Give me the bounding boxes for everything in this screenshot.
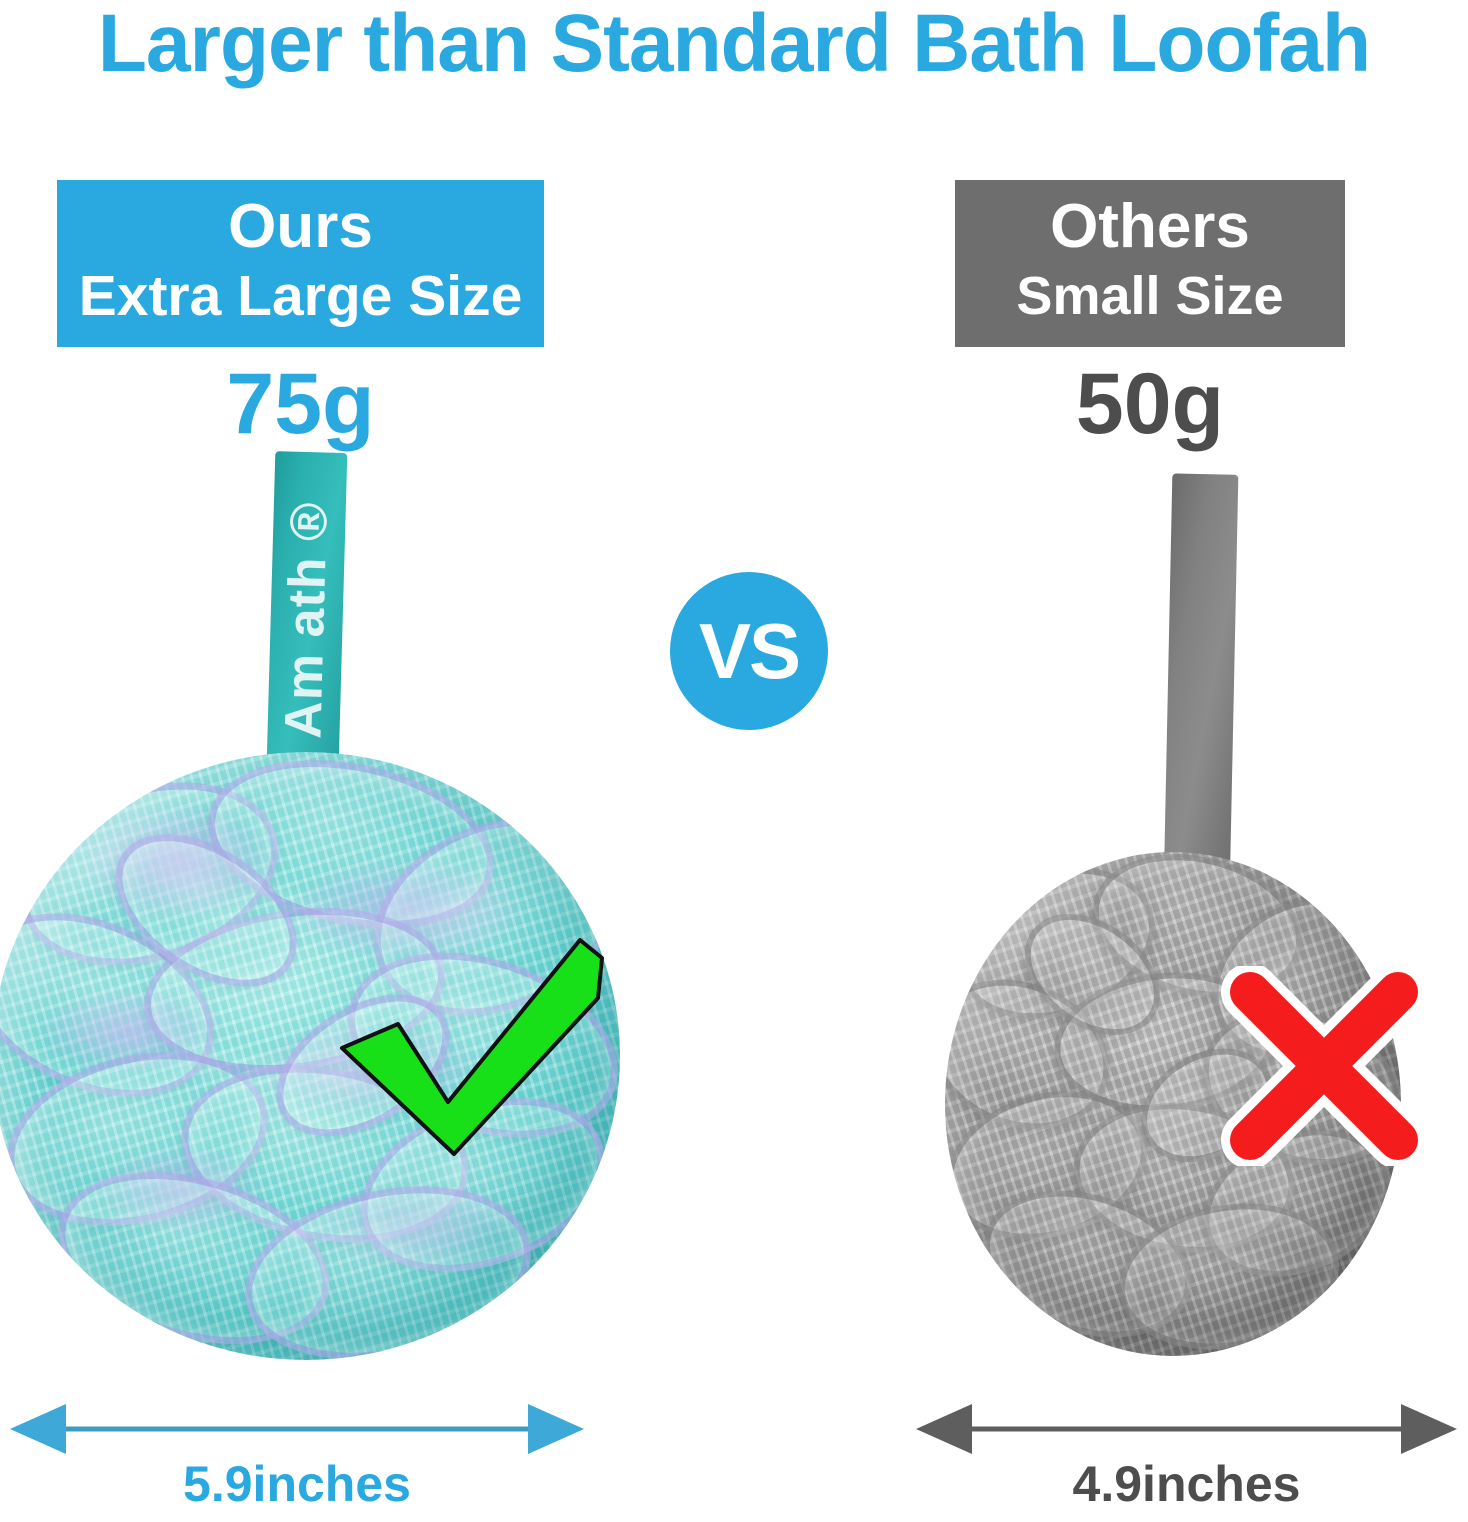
vs-badge: VS	[670, 572, 828, 730]
ours-measurement: 5.9inches	[8, 1402, 586, 1522]
ours-label-secondary: Extra Large Size	[57, 264, 544, 328]
ours-weight-value: 75g	[57, 358, 544, 450]
others-label-secondary: Small Size	[955, 264, 1345, 328]
green-check-icon	[336, 936, 608, 1158]
ours-hanging-strap: Am ath ®	[266, 451, 347, 788]
others-comparison-column: Others Small Size 50g	[734, 0, 1468, 1500]
others-label-box: Others Small Size	[955, 180, 1345, 347]
ours-label-primary: Ours	[57, 190, 544, 264]
ours-measurement-label: 5.9inches	[8, 1456, 586, 1512]
others-measure-arrow-icon	[914, 1402, 1459, 1454]
others-hanging-strap	[1164, 473, 1238, 874]
vs-label: VS	[699, 612, 799, 690]
others-measurement-label: 4.9inches	[914, 1456, 1459, 1512]
red-x-icon	[1216, 966, 1432, 1166]
others-measurement: 4.9inches	[914, 1402, 1459, 1522]
others-weight-value: 50g	[955, 358, 1345, 450]
ours-label-box: Ours Extra Large Size	[57, 180, 544, 347]
ours-strap-brand-text: Am ath ®	[273, 500, 340, 739]
others-label-primary: Others	[955, 190, 1345, 264]
ours-comparison-column: Ours Extra Large Size 75g Am ath ®	[0, 0, 734, 1500]
ours-measure-arrow-icon	[8, 1402, 586, 1454]
